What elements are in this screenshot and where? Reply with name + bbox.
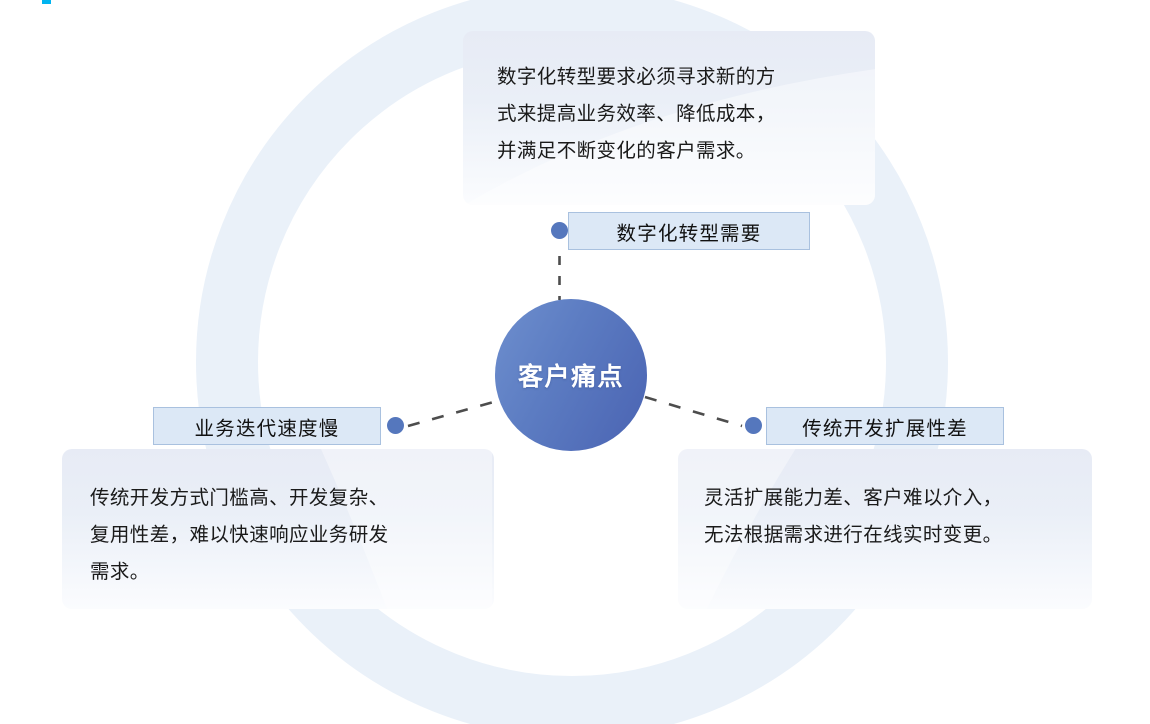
panel-right-description: 灵活扩展能力差、客户难以介入， 无法根据需求进行在线实时变更。 [678,449,1092,609]
node-label-left[interactable]: 业务迭代速度慢 [153,407,381,445]
node-dot-left [387,417,404,434]
node-dot-right [745,417,762,434]
connector-right [645,397,742,426]
panel-left-description: 传统开发方式门槛高、开发复杂、 复用性差，难以快速响应业务研发 需求。 [62,449,494,609]
node-label-right[interactable]: 传统开发扩展性差 [766,407,1004,445]
panel-top-description: 数字化转型要求必须寻求新的方 式来提高业务效率、降低成本， 并满足不断变化的客户… [463,31,875,205]
panel-top-text: 数字化转型要求必须寻求新的方 式来提高业务效率、降低成本， 并满足不断变化的客户… [463,31,875,170]
node-dot-top [551,222,568,239]
connector-left [408,398,508,426]
node-label-top-text: 数字化转型需要 [617,217,762,246]
accent-mark-icon [42,0,51,4]
node-label-left-text: 业务迭代速度慢 [195,412,340,441]
center-node-label: 客户痛点 [518,357,624,393]
node-label-right-text: 传统开发扩展性差 [802,412,968,441]
panel-left-text: 传统开发方式门槛高、开发复杂、 复用性差，难以快速响应业务研发 需求。 [62,449,494,591]
panel-right-text: 灵活扩展能力差、客户难以介入， 无法根据需求进行在线实时变更。 [678,449,1092,554]
node-label-top[interactable]: 数字化转型需要 [568,212,810,250]
center-node-circle[interactable]: 客户痛点 [495,299,647,451]
diagram-canvas: 数字化转型要求必须寻求新的方 式来提高业务效率、降低成本， 并满足不断变化的客户… [0,0,1150,724]
